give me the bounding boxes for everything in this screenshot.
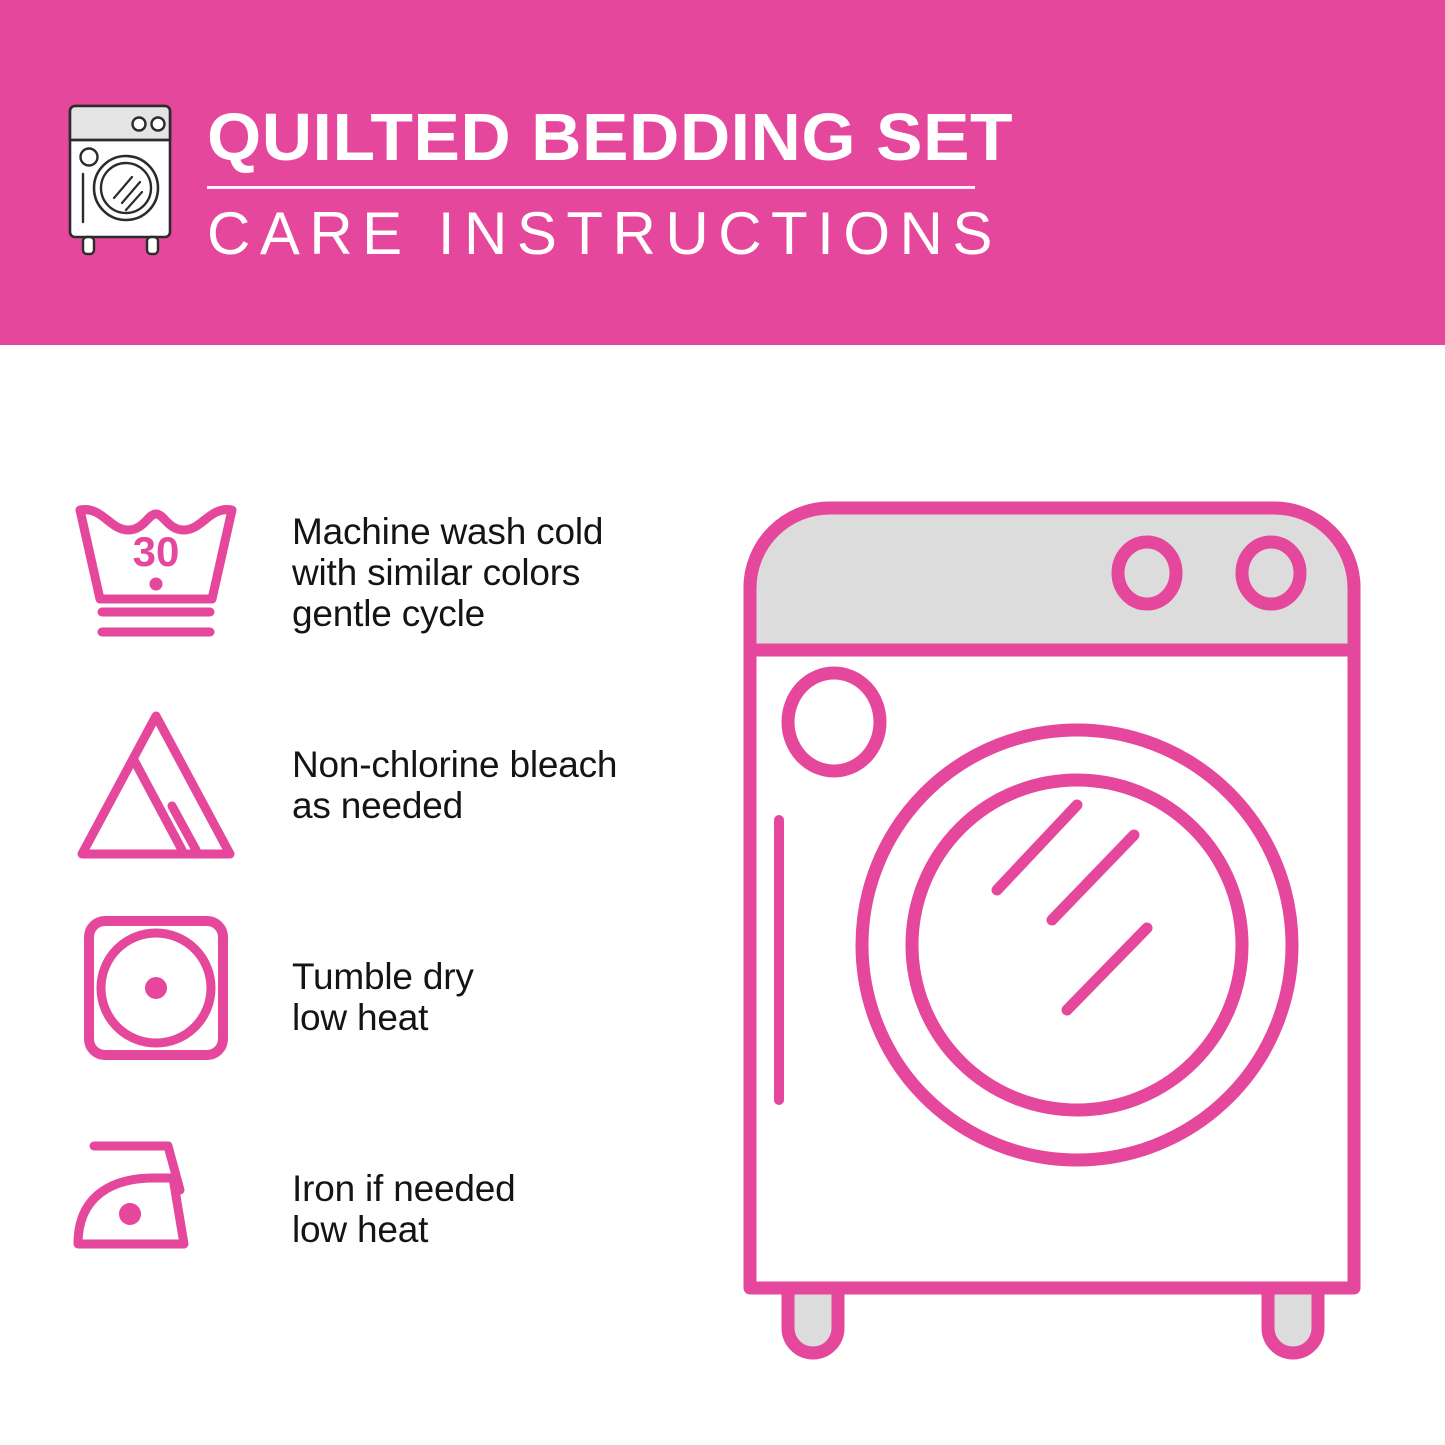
care-instructions-page: QUILTED BEDDING SET CARE INSTRUCTIONS 30 (0, 0, 1445, 1445)
care-instruction-item: Iron if needed low heat (62, 1120, 682, 1332)
care-instruction-label: Tumble dry low heat (292, 956, 474, 1038)
care-instruction-item: 30 Machine wash cold with similar colors… (62, 484, 682, 696)
instruction-line: Non-chlorine bleach (292, 744, 617, 785)
title-divider (207, 186, 975, 189)
washing-machine-illustration (722, 480, 1402, 1370)
washing-machine-icon (62, 100, 187, 260)
header-title-block: QUILTED BEDDING SET CARE INSTRUCTIONS (207, 102, 997, 266)
instruction-line: as needed (292, 785, 617, 826)
iron-low-heat-icon (68, 1134, 240, 1262)
tumble-dry-low-heat-icon (82, 914, 230, 1062)
instruction-line: Tumble dry (292, 956, 474, 997)
instruction-line: gentle cycle (292, 593, 603, 634)
page-subtitle: CARE INSTRUCTIONS (207, 202, 997, 266)
instruction-line: low heat (292, 1209, 515, 1250)
care-instruction-item: Non-chlorine bleach as needed (62, 696, 682, 908)
header-banner: QUILTED BEDDING SET CARE INSTRUCTIONS (0, 0, 1445, 345)
wash-temperature-value: 30 (133, 528, 180, 575)
care-instruction-label: Iron if needed low heat (292, 1168, 515, 1250)
wash-tub-30-gentle-icon: 30 (70, 496, 242, 646)
page-title: QUILTED BEDDING SET (207, 102, 1029, 174)
care-instruction-item: Tumble dry low heat (62, 908, 682, 1120)
instruction-line: Machine wash cold (292, 511, 603, 552)
bleach-triangle-non-chlorine-icon (70, 706, 242, 866)
instruction-line: with similar colors (292, 552, 603, 593)
instruction-line: low heat (292, 997, 474, 1038)
instruction-line: Iron if needed (292, 1168, 515, 1209)
care-instruction-label: Machine wash cold with similar colors ge… (292, 511, 603, 634)
care-instruction-label: Non-chlorine bleach as needed (292, 744, 617, 826)
care-instruction-list: 30 Machine wash cold with similar colors… (62, 484, 682, 1332)
